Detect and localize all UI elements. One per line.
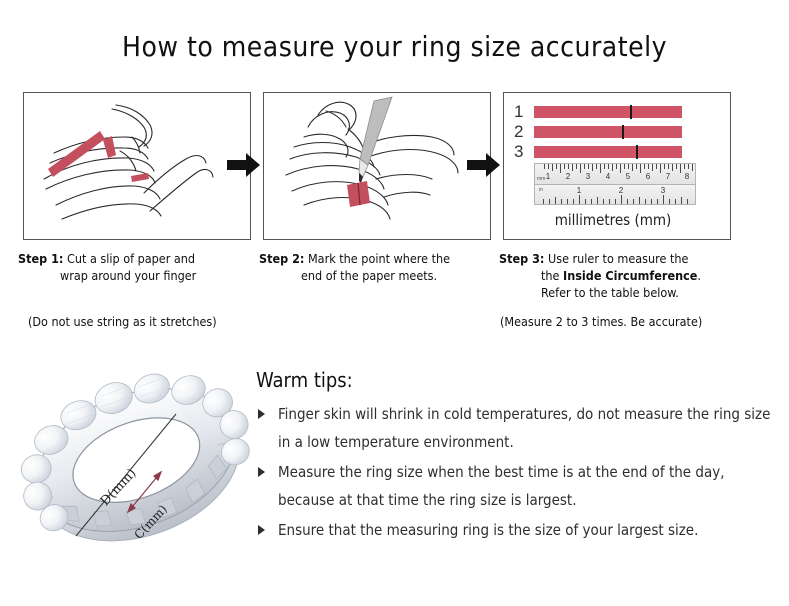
measured-strip-row: 2 bbox=[514, 123, 682, 140]
triangle-bullet-icon bbox=[258, 525, 265, 535]
warm-tip-text: Measure the ring size when the best time… bbox=[278, 463, 725, 509]
measured-strip-row: 3 bbox=[514, 143, 682, 160]
warm-tip-text: Ensure that the measuring ring is the si… bbox=[278, 521, 698, 539]
ruler: mm bbox=[534, 163, 696, 205]
step-3-line-2-pre: the bbox=[541, 268, 563, 283]
ruler-cm-scale: mm bbox=[534, 163, 696, 185]
paper-strip-small bbox=[131, 173, 149, 182]
step-1-caption: Step 1: Cut a slip of paper and wrap aro… bbox=[18, 250, 256, 284]
step-3-measurement-panel: 1 2 3 mm bbox=[503, 92, 731, 240]
ruler-inch-scale: in 1 2 bbox=[534, 185, 696, 205]
step-1-illustration-panel bbox=[23, 92, 251, 240]
ruler-cm-unit-tag: mm bbox=[537, 176, 545, 182]
ruler-cm-label: 7 bbox=[666, 173, 670, 181]
ruler-cm-label: 6 bbox=[646, 173, 650, 181]
ruler-cm-label: 1 bbox=[546, 173, 550, 181]
hand-with-paper-strip-icon bbox=[24, 93, 250, 239]
inside-circumference-emphasis: Inside Circumference bbox=[563, 268, 697, 283]
step-2-line-2: end of the paper meets. bbox=[259, 267, 497, 284]
paper-strip-tip bbox=[103, 136, 116, 158]
warm-tips-list: Finger skin will shrink in cold temperat… bbox=[256, 400, 771, 546]
strip-number: 2 bbox=[514, 123, 534, 140]
step-1-lead: Step 1: bbox=[18, 251, 63, 266]
paper-strip bbox=[534, 106, 682, 118]
step-3-note: (Measure 2 to 3 times. Be accurate) bbox=[500, 314, 702, 329]
ruler-cm-label: 5 bbox=[626, 173, 630, 181]
ruler-inch-unit-tag: in bbox=[539, 187, 543, 193]
warm-tips-heading: Warm tips: bbox=[256, 368, 353, 392]
warm-tip-item: Finger skin will shrink in cold temperat… bbox=[256, 400, 771, 456]
triangle-bullet-icon bbox=[258, 409, 265, 419]
step-2-caption: Step 2: Mark the point where the end of … bbox=[259, 250, 497, 284]
step-1-line-2: wrap around your finger bbox=[18, 267, 256, 284]
warm-tip-item: Ensure that the measuring ring is the si… bbox=[256, 516, 771, 544]
ruler-cm-label: 4 bbox=[606, 173, 610, 181]
strip-number: 1 bbox=[514, 103, 534, 120]
ruler-cm-label: 2 bbox=[566, 173, 570, 181]
step-1-line-1: Cut a slip of paper and bbox=[63, 251, 195, 266]
step-3-line-2: the Inside Circumference. bbox=[499, 267, 779, 284]
strip-mark bbox=[636, 145, 638, 159]
ruler-cm-label: 3 bbox=[586, 173, 590, 181]
ring-diagram: D(mm) C(mm) bbox=[18, 352, 256, 572]
hand-marking-paper-strip-icon bbox=[264, 93, 490, 239]
warm-tip-item: Measure the ring size when the best time… bbox=[256, 458, 771, 514]
ruler-inch-label: 3 bbox=[661, 187, 665, 195]
warm-tip-text: Finger skin will shrink in cold temperat… bbox=[278, 405, 770, 451]
ruler-cm-label: 8 bbox=[685, 173, 689, 181]
arrow-step2-to-step3-icon bbox=[467, 152, 501, 178]
step-2-lead: Step 2: bbox=[259, 251, 304, 266]
ruler-unit-label: millimetres (mm) bbox=[504, 211, 722, 229]
step-3-line-3: Refer to the table below. bbox=[499, 284, 779, 301]
paper-strip bbox=[534, 146, 682, 158]
step-3-lead: Step 3: bbox=[499, 251, 544, 266]
triangle-bullet-icon bbox=[258, 467, 265, 477]
step-3-line-2-post: . bbox=[697, 268, 701, 283]
strip-mark bbox=[630, 105, 632, 119]
eternity-ring-icon bbox=[18, 352, 256, 572]
ruler-inch-label: 2 bbox=[619, 187, 623, 195]
measured-strip-row: 1 bbox=[514, 103, 682, 120]
step-2-illustration-panel bbox=[263, 92, 491, 240]
step-1-note: (Do not use string as it stretches) bbox=[28, 314, 217, 329]
arrow-step1-to-step2-icon bbox=[227, 152, 261, 178]
step-3-line-1: Use ruler to measure the bbox=[544, 251, 688, 266]
page-title: How to measure your ring size accurately bbox=[0, 30, 789, 63]
ruler-inch-label: 1 bbox=[577, 187, 581, 195]
strip-number: 3 bbox=[514, 143, 534, 160]
step-2-line-1: Mark the point where the bbox=[304, 251, 450, 266]
paper-strip-shape bbox=[48, 131, 105, 177]
paper-strip bbox=[534, 126, 682, 138]
step-3-caption: Step 3: Use ruler to measure the the Ins… bbox=[499, 250, 779, 301]
strip-mark bbox=[622, 125, 624, 139]
